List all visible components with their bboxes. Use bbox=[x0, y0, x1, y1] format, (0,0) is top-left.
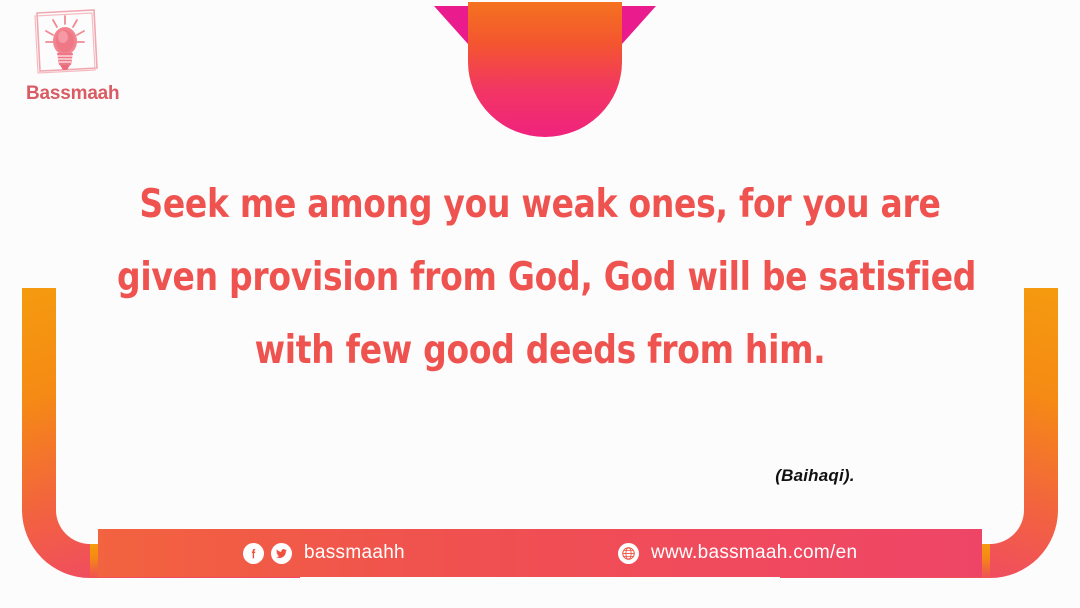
lightbulb-in-frame-icon bbox=[26, 4, 104, 80]
quote-attribution: (Baihaqi). bbox=[700, 466, 930, 486]
brand-logo: Bassmaah bbox=[14, 4, 174, 103]
website-url[interactable]: www.bassmaah.com/en bbox=[651, 542, 857, 564]
quote-line-1: Seek me among you weak ones, for you are bbox=[117, 168, 963, 241]
quote-text: Seek me among you weak ones, for you are… bbox=[117, 168, 963, 387]
footer-bar: bassmaahh www.bassmaah.com/en bbox=[98, 529, 982, 577]
footer-website-group[interactable]: www.bassmaah.com/en bbox=[618, 542, 857, 564]
brand-name: Bassmaah bbox=[26, 84, 174, 103]
twitter-icon[interactable] bbox=[271, 543, 292, 564]
quote-line-3: with few good deeds from him. bbox=[117, 314, 963, 387]
social-handle[interactable]: bassmaahh bbox=[304, 542, 405, 564]
footer-social-group[interactable]: bassmaahh bbox=[243, 542, 405, 564]
quote-line-2: given provision from God, God will be sa… bbox=[117, 241, 963, 314]
globe-icon[interactable] bbox=[618, 543, 639, 564]
facebook-icon[interactable] bbox=[243, 543, 264, 564]
rounded-ribbon-banner-icon bbox=[430, 0, 660, 150]
poster-canvas: Bassmaah bbox=[0, 0, 1080, 608]
